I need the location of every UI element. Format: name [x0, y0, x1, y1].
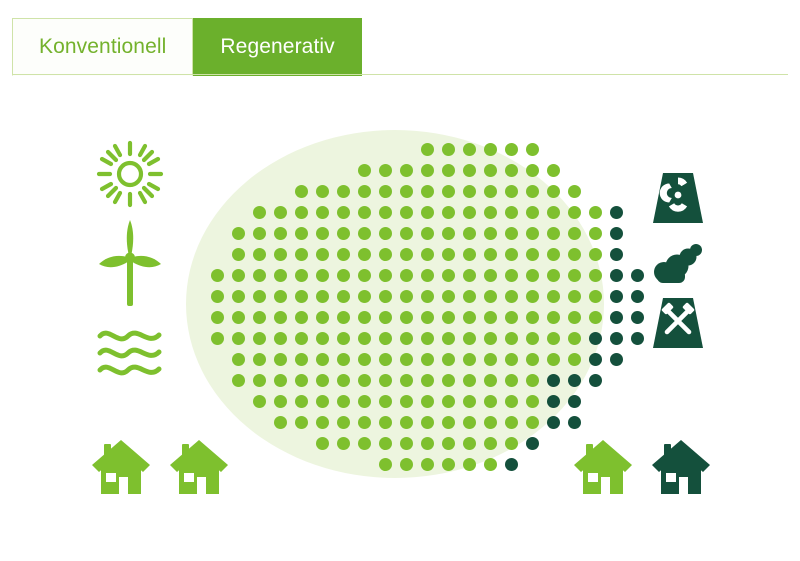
- dot-renewable: [463, 290, 476, 303]
- dot-renewable: [337, 437, 350, 450]
- dot-renewable: [568, 269, 581, 282]
- coal-smoke-icon: [647, 238, 709, 290]
- dot-renewable: [421, 164, 434, 177]
- dot-renewable: [274, 269, 287, 282]
- dot-renewable: [568, 185, 581, 198]
- dot-row: [253, 203, 631, 221]
- dot-renewable: [463, 206, 476, 219]
- dot-conventional: [568, 416, 581, 429]
- dot-renewable: [379, 374, 392, 387]
- house-dark-icon: [650, 438, 712, 496]
- dot-renewable: [295, 374, 308, 387]
- dot-renewable: [505, 332, 518, 345]
- dot-renewable: [253, 332, 266, 345]
- dot-renewable: [400, 206, 413, 219]
- dot-renewable: [526, 353, 539, 366]
- dot-conventional: [589, 353, 602, 366]
- dot-renewable: [316, 353, 329, 366]
- dot-renewable: [295, 395, 308, 408]
- dot-renewable: [337, 311, 350, 324]
- dot-renewable: [379, 416, 392, 429]
- dot-renewable: [421, 143, 434, 156]
- dot-renewable: [295, 416, 308, 429]
- dot-renewable: [484, 353, 497, 366]
- dot-renewable: [421, 395, 434, 408]
- dot-renewable: [337, 416, 350, 429]
- dot-renewable: [358, 374, 371, 387]
- dot-renewable: [463, 395, 476, 408]
- dot-renewable: [463, 437, 476, 450]
- dot-renewable: [379, 458, 392, 471]
- dot-renewable: [505, 206, 518, 219]
- tab-bar: Konventionell Regenerativ: [0, 0, 800, 82]
- dot-renewable: [421, 353, 434, 366]
- dot-renewable: [421, 185, 434, 198]
- dot-renewable: [463, 143, 476, 156]
- dot-renewable: [547, 164, 560, 177]
- dot-conventional: [526, 437, 539, 450]
- dot-renewable: [589, 227, 602, 240]
- house-green-icon: [572, 438, 634, 496]
- dot-renewable: [505, 248, 518, 261]
- dot-row: [421, 140, 547, 158]
- dot-renewable: [232, 374, 245, 387]
- energy-mix-diagram: [0, 82, 800, 561]
- dot-renewable: [442, 248, 455, 261]
- dot-renewable: [358, 332, 371, 345]
- dot-renewable: [253, 290, 266, 303]
- dot-row: [211, 308, 652, 326]
- dot-renewable: [547, 311, 560, 324]
- dot-renewable: [358, 437, 371, 450]
- dot-renewable: [505, 353, 518, 366]
- dot-renewable: [484, 332, 497, 345]
- dot-renewable: [337, 395, 350, 408]
- dot-renewable: [274, 290, 287, 303]
- tab-konventionell[interactable]: Konventionell: [12, 18, 193, 76]
- dot-renewable: [337, 206, 350, 219]
- nuclear-plant-icon: [647, 158, 709, 238]
- dot-renewable: [463, 164, 476, 177]
- dot-renewable: [505, 395, 518, 408]
- dot-conventional: [589, 374, 602, 387]
- dot-renewable: [379, 164, 392, 177]
- dot-renewable: [400, 374, 413, 387]
- dot-renewable: [337, 185, 350, 198]
- dot-renewable: [295, 290, 308, 303]
- water-waves-icon: [95, 310, 165, 396]
- dot-renewable: [400, 248, 413, 261]
- dot-renewable: [505, 227, 518, 240]
- house-green-icon: [168, 438, 230, 496]
- dot-renewable: [505, 416, 518, 429]
- dot-renewable: [484, 458, 497, 471]
- dot-conventional: [610, 269, 623, 282]
- dot-renewable: [442, 311, 455, 324]
- dot-renewable: [253, 353, 266, 366]
- dot-renewable: [484, 311, 497, 324]
- dot-renewable: [463, 269, 476, 282]
- dot-conventional: [610, 290, 623, 303]
- dot-conventional: [589, 332, 602, 345]
- dot-renewable: [421, 206, 434, 219]
- dot-renewable: [316, 437, 329, 450]
- dot-renewable: [526, 311, 539, 324]
- dot-renewable: [358, 416, 371, 429]
- dot-renewable: [400, 269, 413, 282]
- dot-renewable: [253, 395, 266, 408]
- dot-renewable: [358, 353, 371, 366]
- dot-renewable: [337, 290, 350, 303]
- dot-renewable: [442, 143, 455, 156]
- dot-renewable: [505, 374, 518, 387]
- dot-renewable: [358, 227, 371, 240]
- dot-renewable: [442, 374, 455, 387]
- dot-renewable: [526, 395, 539, 408]
- dot-renewable: [295, 248, 308, 261]
- dot-renewable: [274, 374, 287, 387]
- dot-renewable: [379, 311, 392, 324]
- dot-renewable: [232, 311, 245, 324]
- dot-renewable: [505, 164, 518, 177]
- dot-renewable: [484, 185, 497, 198]
- coal-plant-hammer-icon: [647, 290, 709, 356]
- dot-conventional: [610, 227, 623, 240]
- house-green-icon: [90, 438, 152, 496]
- dot-renewable: [442, 458, 455, 471]
- dot-renewable: [484, 395, 497, 408]
- dot-renewable: [505, 143, 518, 156]
- dot-renewable: [421, 311, 434, 324]
- dot-renewable: [211, 332, 224, 345]
- dot-renewable: [484, 143, 497, 156]
- dot-renewable: [379, 206, 392, 219]
- dot-renewable: [337, 248, 350, 261]
- dot-row: [316, 434, 547, 452]
- dot-renewable: [526, 206, 539, 219]
- dot-row: [211, 329, 652, 347]
- dot-conventional: [547, 374, 560, 387]
- dot-renewable: [274, 332, 287, 345]
- dot-renewable: [526, 227, 539, 240]
- dot-renewable: [316, 374, 329, 387]
- dot-row: [211, 287, 652, 305]
- dot-renewable: [547, 248, 560, 261]
- dot-renewable: [400, 311, 413, 324]
- dot-renewable: [253, 248, 266, 261]
- dot-renewable: [379, 248, 392, 261]
- dot-renewable: [463, 353, 476, 366]
- dot-renewable: [463, 374, 476, 387]
- dot-row: [253, 392, 589, 410]
- dot-renewable: [274, 353, 287, 366]
- dot-renewable: [568, 206, 581, 219]
- renewable-households: [90, 438, 230, 496]
- dot-renewable: [400, 353, 413, 366]
- tab-konventionell-label: Konventionell: [39, 35, 166, 59]
- dot-renewable: [463, 416, 476, 429]
- dot-renewable: [526, 248, 539, 261]
- dot-renewable: [463, 332, 476, 345]
- dot-renewable: [337, 374, 350, 387]
- dot-renewable: [379, 185, 392, 198]
- dot-renewable: [526, 269, 539, 282]
- dot-renewable: [568, 248, 581, 261]
- conventional-households: [572, 438, 712, 496]
- dot-renewable: [421, 437, 434, 450]
- dot-renewable: [274, 311, 287, 324]
- dot-renewable: [316, 248, 329, 261]
- dot-renewable: [589, 248, 602, 261]
- dot-renewable: [463, 227, 476, 240]
- dot-row: [232, 350, 631, 368]
- dot-renewable: [316, 290, 329, 303]
- dot-renewable: [421, 269, 434, 282]
- dot-row: [295, 182, 589, 200]
- tab-underline-rule: [12, 74, 788, 75]
- dot-renewable: [358, 269, 371, 282]
- dot-renewable: [316, 311, 329, 324]
- dot-renewable: [484, 290, 497, 303]
- dot-renewable: [316, 185, 329, 198]
- dot-renewable: [442, 164, 455, 177]
- dot-renewable: [400, 290, 413, 303]
- dot-renewable: [400, 185, 413, 198]
- dot-renewable: [316, 416, 329, 429]
- dot-renewable: [337, 332, 350, 345]
- dot-renewable: [505, 437, 518, 450]
- dot-renewable: [274, 395, 287, 408]
- dot-renewable: [484, 437, 497, 450]
- dot-renewable: [400, 395, 413, 408]
- dot-renewable: [547, 290, 560, 303]
- dot-renewable: [274, 206, 287, 219]
- dot-renewable: [442, 290, 455, 303]
- dot-conventional: [610, 248, 623, 261]
- dot-renewable: [358, 164, 371, 177]
- dot-renewable: [253, 227, 266, 240]
- dot-renewable: [316, 206, 329, 219]
- dot-row: [274, 413, 589, 431]
- dot-renewable: [589, 311, 602, 324]
- dot-renewable: [442, 185, 455, 198]
- tab-regenerativ[interactable]: Regenerativ: [193, 18, 361, 76]
- dot-renewable: [232, 248, 245, 261]
- dot-renewable: [295, 353, 308, 366]
- dot-renewable: [295, 311, 308, 324]
- dot-renewable: [568, 290, 581, 303]
- dot-renewable: [400, 416, 413, 429]
- conventional-source-icons: [630, 158, 726, 356]
- dot-renewable: [274, 416, 287, 429]
- dot-renewable: [589, 206, 602, 219]
- dot-renewable: [358, 395, 371, 408]
- dot-renewable: [568, 227, 581, 240]
- dot-renewable: [547, 332, 560, 345]
- dot-renewable: [421, 332, 434, 345]
- dot-renewable: [505, 290, 518, 303]
- tab-strip: Konventionell Regenerativ: [12, 16, 362, 76]
- dot-renewable: [547, 269, 560, 282]
- dot-conventional: [547, 416, 560, 429]
- dot-renewable: [547, 353, 560, 366]
- dot-renewable: [295, 206, 308, 219]
- dot-renewable: [400, 458, 413, 471]
- dot-renewable: [295, 332, 308, 345]
- dot-renewable: [589, 269, 602, 282]
- dot-renewable: [232, 353, 245, 366]
- wind-turbine-icon: [97, 212, 163, 310]
- dot-renewable: [484, 206, 497, 219]
- dot-renewable: [358, 290, 371, 303]
- dot-row: [379, 455, 526, 473]
- dot-renewable: [379, 227, 392, 240]
- dot-renewable: [421, 290, 434, 303]
- dot-renewable: [400, 437, 413, 450]
- renewable-source-icons: [82, 136, 178, 396]
- dot-renewable: [442, 227, 455, 240]
- dot-conventional: [568, 374, 581, 387]
- dot-renewable: [421, 248, 434, 261]
- dot-renewable: [337, 269, 350, 282]
- dot-row: [211, 266, 652, 284]
- dot-renewable: [526, 185, 539, 198]
- dot-renewable: [295, 227, 308, 240]
- dot-renewable: [484, 374, 497, 387]
- dot-conventional: [610, 311, 623, 324]
- dot-row: [232, 371, 610, 389]
- dot-renewable: [358, 311, 371, 324]
- dot-renewable: [253, 269, 266, 282]
- dot-row: [232, 224, 631, 242]
- dot-renewable: [505, 185, 518, 198]
- dot-renewable: [253, 311, 266, 324]
- dot-renewable: [505, 311, 518, 324]
- dot-renewable: [358, 185, 371, 198]
- dot-renewable: [442, 437, 455, 450]
- dot-renewable: [274, 248, 287, 261]
- dot-renewable: [421, 227, 434, 240]
- dot-renewable: [295, 269, 308, 282]
- dot-renewable: [232, 227, 245, 240]
- dot-renewable: [232, 290, 245, 303]
- dot-conventional: [610, 206, 623, 219]
- solar-sun-icon: [95, 136, 165, 212]
- dot-renewable: [421, 458, 434, 471]
- dot-renewable: [442, 269, 455, 282]
- dot-renewable: [484, 227, 497, 240]
- dot-renewable: [400, 227, 413, 240]
- dot-renewable: [253, 374, 266, 387]
- dot-renewable: [463, 311, 476, 324]
- dot-renewable: [484, 416, 497, 429]
- dot-renewable: [232, 332, 245, 345]
- dot-renewable: [568, 353, 581, 366]
- dot-renewable: [442, 332, 455, 345]
- dot-renewable: [358, 248, 371, 261]
- tab-regenerativ-label: Regenerativ: [220, 35, 334, 59]
- dot-renewable: [526, 143, 539, 156]
- dot-renewable: [316, 395, 329, 408]
- dot-renewable: [400, 164, 413, 177]
- dot-renewable: [421, 374, 434, 387]
- dot-renewable: [526, 290, 539, 303]
- dot-renewable: [211, 290, 224, 303]
- dot-renewable: [484, 248, 497, 261]
- dot-renewable: [253, 206, 266, 219]
- dot-renewable: [547, 206, 560, 219]
- dot-renewable: [400, 332, 413, 345]
- dot-renewable: [526, 164, 539, 177]
- dot-renewable: [442, 395, 455, 408]
- dot-renewable: [547, 227, 560, 240]
- dot-renewable: [526, 416, 539, 429]
- dot-renewable: [379, 395, 392, 408]
- dot-renewable: [316, 227, 329, 240]
- dot-renewable: [337, 353, 350, 366]
- dot-renewable: [379, 353, 392, 366]
- dot-renewable: [463, 458, 476, 471]
- dot-renewable: [442, 416, 455, 429]
- dot-renewable: [589, 290, 602, 303]
- dot-renewable: [421, 416, 434, 429]
- dot-renewable: [463, 185, 476, 198]
- dot-renewable: [379, 269, 392, 282]
- dot-renewable: [211, 311, 224, 324]
- dot-renewable: [526, 374, 539, 387]
- dot-renewable: [484, 164, 497, 177]
- dot-conventional: [547, 395, 560, 408]
- dot-renewable: [505, 269, 518, 282]
- dot-renewable: [547, 185, 560, 198]
- dot-renewable: [568, 311, 581, 324]
- energy-mix-screen: Konventionell Regenerativ: [0, 0, 800, 561]
- dot-renewable: [316, 269, 329, 282]
- dot-renewable: [463, 248, 476, 261]
- dot-renewable: [526, 332, 539, 345]
- dot-renewable: [568, 332, 581, 345]
- dot-conventional: [505, 458, 518, 471]
- dot-renewable: [442, 353, 455, 366]
- dot-renewable: [358, 206, 371, 219]
- dot-pictogram-grid: [186, 130, 604, 478]
- dot-renewable: [295, 185, 308, 198]
- dot-row: [232, 245, 631, 263]
- dot-renewable: [232, 269, 245, 282]
- dot-conventional: [568, 395, 581, 408]
- dot-row: [358, 161, 568, 179]
- dot-conventional: [610, 353, 623, 366]
- dot-renewable: [442, 206, 455, 219]
- dot-renewable: [274, 227, 287, 240]
- dot-renewable: [379, 332, 392, 345]
- dot-renewable: [211, 269, 224, 282]
- dot-renewable: [337, 227, 350, 240]
- dot-renewable: [316, 332, 329, 345]
- dot-renewable: [379, 290, 392, 303]
- dot-conventional: [610, 332, 623, 345]
- dot-renewable: [379, 437, 392, 450]
- dot-renewable: [484, 269, 497, 282]
